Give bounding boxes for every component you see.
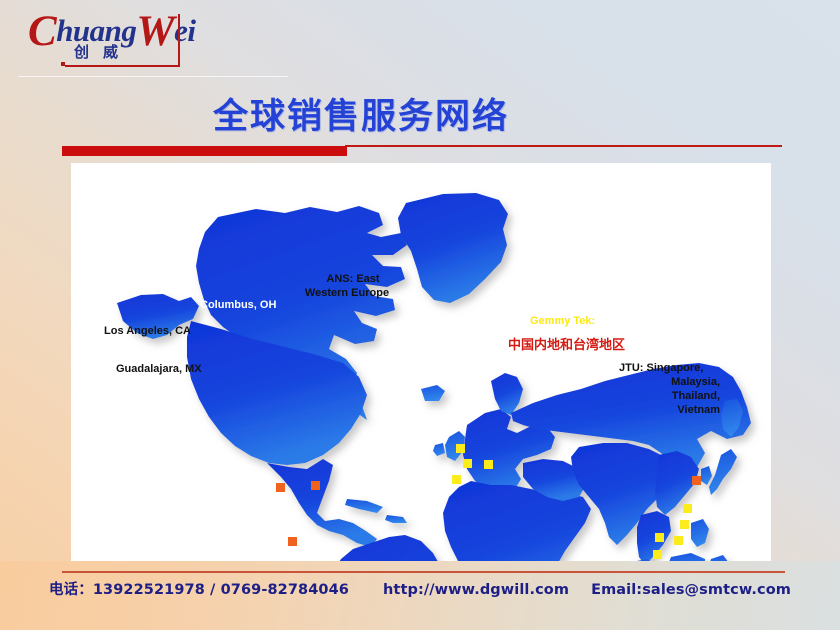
label-ans-line1: ANS: East xyxy=(291,273,415,286)
label-gemmy-tek: Gemmy Tek: xyxy=(530,315,595,328)
label-jtu-line1: JTU: Singapore, xyxy=(619,362,703,375)
label-columbus: Columbus, OH xyxy=(200,299,276,312)
marker-columbus[interactable] xyxy=(311,481,320,490)
label-guadalajara: Guadalajara, MX xyxy=(116,363,202,376)
marker-taiwan[interactable] xyxy=(674,536,683,545)
label-gemmy-region-cn: 中国内地和台湾地区 xyxy=(508,338,625,354)
label-jtu-line2: Malaysia, xyxy=(619,376,720,389)
marker-china-south[interactable] xyxy=(655,533,664,542)
label-jtu-line3: Thailand, xyxy=(619,390,720,403)
logo-dot xyxy=(61,62,65,66)
marker-los-angeles[interactable] xyxy=(276,483,285,492)
logo-letter-w: W xyxy=(136,8,174,55)
page-title: 全球销售服务网络 xyxy=(213,88,509,139)
marker-europe-uk[interactable] xyxy=(463,459,472,468)
footer-contact-bar: 电话：13922521978 / 0769-82784046http://www… xyxy=(0,578,840,599)
label-jtu-line4: Vietnam xyxy=(619,404,720,417)
logo-bracket-horizontal xyxy=(65,65,180,67)
footer-website[interactable]: http://www.dgwill.com xyxy=(383,582,569,598)
footer-email[interactable]: Email:sales@smtcw.com xyxy=(591,582,791,598)
title-rule-thick xyxy=(62,146,347,156)
company-logo: ChuangWei 创威 xyxy=(28,8,203,70)
marker-vietnam[interactable] xyxy=(653,550,662,559)
logo-letter-c: C xyxy=(28,8,56,55)
marker-china-east2[interactable] xyxy=(680,520,689,529)
logo-chinese-name: 创威 xyxy=(74,41,132,62)
label-ans-line2: Western Europe xyxy=(279,287,415,300)
logo-bracket-vertical xyxy=(178,14,180,67)
marker-europe-west[interactable] xyxy=(452,475,461,484)
title-rule-thin xyxy=(345,145,782,147)
marker-europe-east[interactable] xyxy=(484,460,493,469)
slide-root: ChuangWei 创威 全球销售服务网络 xyxy=(0,0,840,630)
marker-europe-north[interactable] xyxy=(456,444,465,453)
logo-underline xyxy=(18,76,288,77)
marker-china-east1[interactable] xyxy=(683,504,692,513)
label-los-angeles: Los Angeles, CA xyxy=(104,325,191,338)
world-map-panel: Columbus, OH Los Angeles, CA Guadalajara… xyxy=(71,163,771,561)
marker-guadalajara[interactable] xyxy=(288,537,297,546)
footer-phone: 电话：13922521978 / 0769-82784046 xyxy=(49,578,349,599)
footer-rule xyxy=(62,571,785,573)
marker-beijing[interactable] xyxy=(692,476,701,485)
